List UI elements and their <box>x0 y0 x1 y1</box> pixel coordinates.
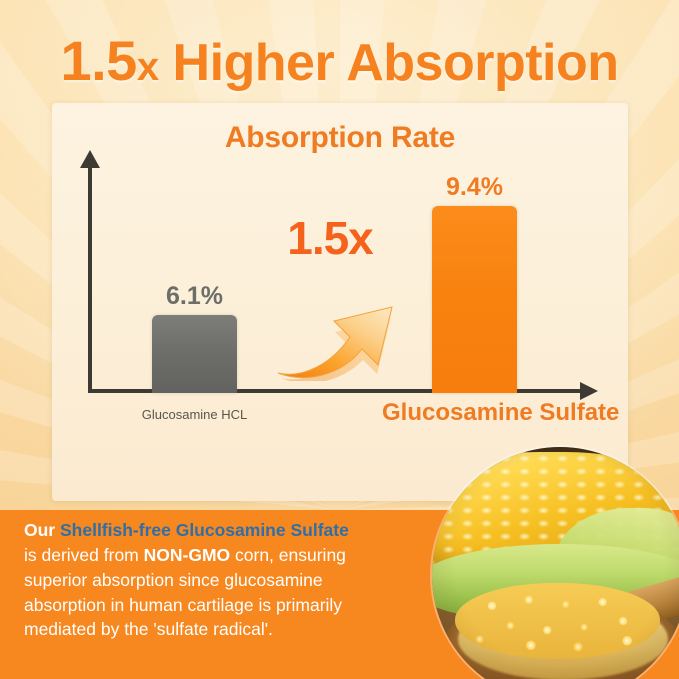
x-axis-arrowhead-icon <box>580 382 598 400</box>
description-nongmo-bold: NON-GMO <box>144 545 231 565</box>
description-line-1: Our Shellfish-free Glucosamine Sulfate <box>24 518 444 543</box>
multiplier-annotation: 1.5x <box>260 211 400 265</box>
chart-card: Absorption Rate 6.1% Glucosamine HCL 9.4… <box>52 103 628 501</box>
bar-label-glucosamine-hcl: Glucosamine HCL <box>112 407 277 422</box>
description-line-3: superior absorption since glucosamine <box>24 568 444 593</box>
description-line-5: mediated by the 'sulfate radical'. <box>24 617 444 642</box>
description-line-1-prefix: Our <box>24 520 60 540</box>
description-line-2-prefix: is derived from <box>24 545 144 565</box>
y-axis-arrowhead-icon <box>80 150 100 168</box>
chart-title: Absorption Rate <box>52 121 628 155</box>
bar-glucosamine-hcl <box>152 315 237 393</box>
description-line-4: absorption in human cartilage is primari… <box>24 593 444 618</box>
headline-multiplier: 1.5 <box>60 29 136 92</box>
page-title: 1.5x Higher Absorption <box>0 28 679 93</box>
growth-arrow-icon <box>270 263 420 381</box>
corn-kernel-pile <box>455 583 660 660</box>
description-line-2-suffix: corn, ensuring <box>230 545 346 565</box>
bar-value-glucosamine-sulfate: 9.4% <box>432 173 517 202</box>
infographic-root: 1.5x Higher Absorption Absorption Rate 6… <box>0 0 679 679</box>
headline-rest: Higher Absorption <box>159 34 619 92</box>
description-text: Our Shellfish-free Glucosamine Sulfate i… <box>24 518 444 642</box>
corn-photo-image <box>432 447 679 679</box>
y-axis-line <box>88 165 92 389</box>
corn-photo <box>432 447 679 679</box>
bar-glucosamine-sulfate <box>432 206 517 393</box>
headline-x: x <box>137 45 159 89</box>
bar-value-glucosamine-hcl: 6.1% <box>152 282 237 311</box>
description-line-2: is derived from NON-GMO corn, ensuring <box>24 543 444 568</box>
description-highlight-blue: Shellfish-free Glucosamine Sulfate <box>60 520 349 540</box>
bar-label-glucosamine-sulfate: Glucosamine Sulfate <box>382 400 567 426</box>
